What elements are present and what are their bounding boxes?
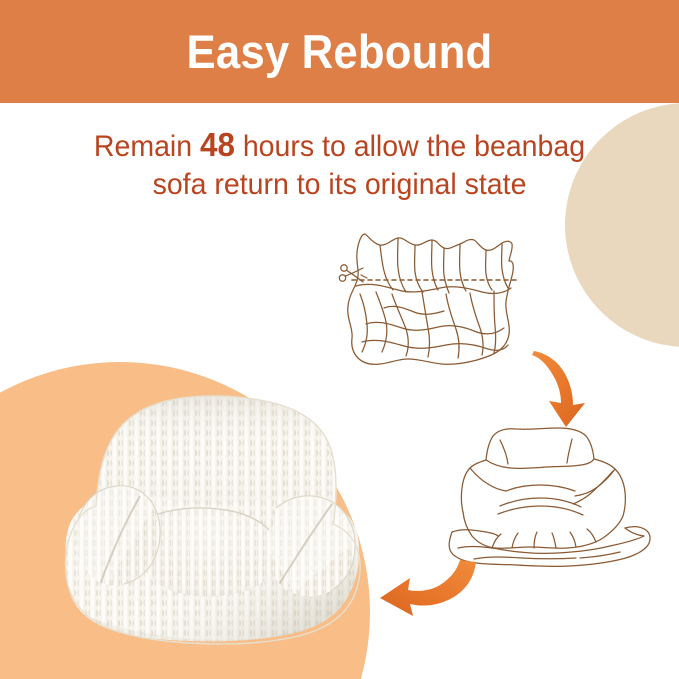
curved-left-arrow-icon — [372, 552, 480, 626]
subtitle-text: Remain 48 hours to allow the beanbag sof… — [17, 126, 662, 204]
subtitle-line-2: sofa return to its original state — [17, 166, 662, 204]
product-photo-beanbag-sofa — [44, 378, 380, 662]
infographic-page: Easy Rebound Remain 48 hours to allow th… — [0, 0, 679, 679]
header-band: Easy Rebound — [0, 0, 679, 103]
subtitle-line-1: Remain 48 hours to allow the beanbag — [17, 126, 662, 166]
packed-bag-illustration — [336, 228, 546, 376]
subtitle-line1-after: hours to allow the beanbag — [235, 130, 585, 163]
subtitle-line1-before: Remain — [94, 130, 200, 163]
curved-down-arrow-icon — [528, 348, 608, 430]
unpacked-sofa-illustration — [448, 418, 662, 584]
subtitle-hours-value: 48 — [200, 126, 235, 163]
page-title: Easy Rebound — [187, 28, 493, 75]
